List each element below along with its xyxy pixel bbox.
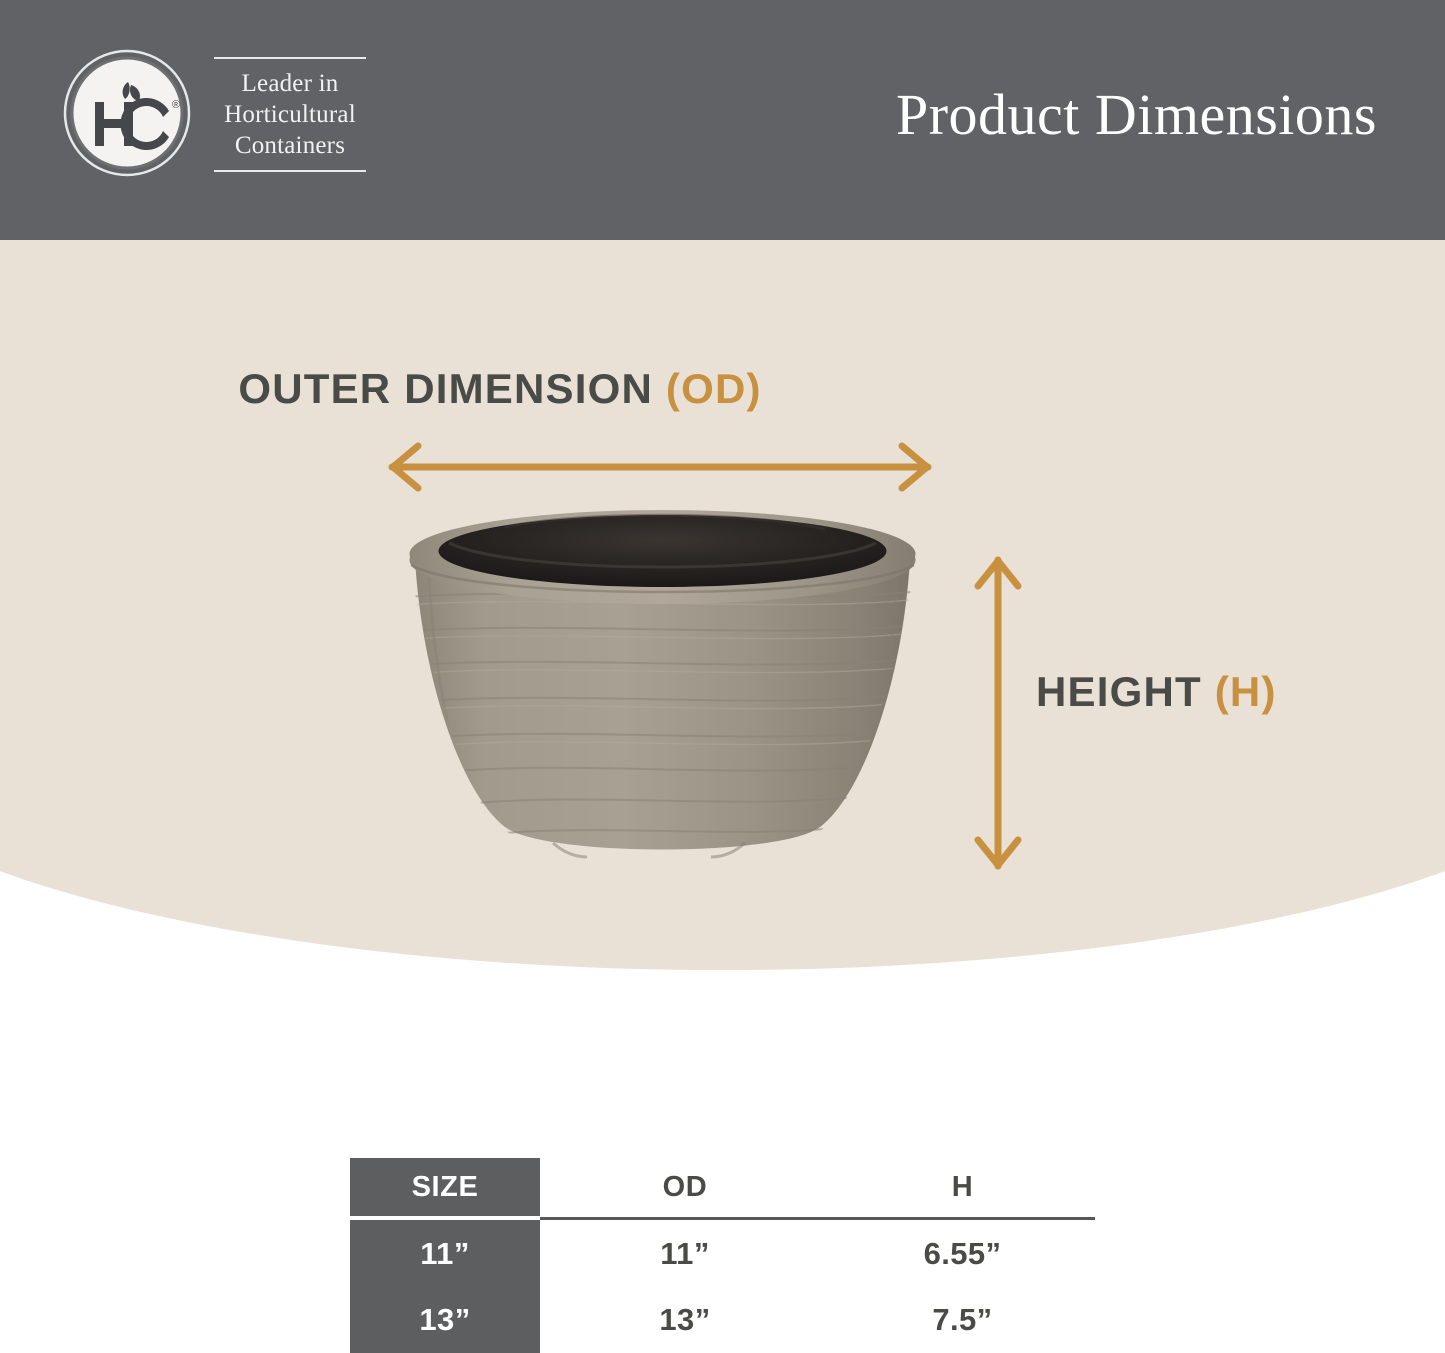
hc-logo-icon: ®	[62, 48, 192, 178]
table-row: 13”	[350, 1287, 540, 1353]
table-row: 11”	[350, 1220, 540, 1287]
od-label-accent: (OD)	[666, 365, 762, 412]
table-row: 7.5”	[830, 1287, 1095, 1353]
od-label-main: OUTER DIMENSION	[238, 365, 666, 412]
dimensions-table: SIZE OD H 11” 11” 6.55” 13” 13” 7.5”	[350, 1158, 1095, 1353]
table-row: 11”	[540, 1220, 830, 1287]
table-header-h: H	[830, 1158, 1095, 1216]
table-row: 13”	[540, 1287, 830, 1353]
height-arrow-icon	[972, 548, 1024, 878]
outer-dimension-arrow-icon	[380, 440, 940, 494]
height-label-main: HEIGHT	[1036, 668, 1215, 715]
tagline-line-1: Leader in	[224, 68, 356, 99]
table-row: 6.55”	[830, 1220, 1095, 1287]
logo-tagline: Leader in Horticultural Containers	[214, 55, 366, 172]
outer-dimension-label: OUTER DIMENSION (OD)	[0, 365, 1445, 413]
page-header: ® Leader in Horticultural Containers Pro…	[0, 0, 1445, 240]
tagline-line-2: Horticultural	[224, 99, 356, 130]
table-header-size: SIZE	[350, 1158, 540, 1216]
planter-product-image	[385, 505, 940, 880]
registered-trademark-symbol: ®	[172, 99, 180, 111]
tagline-rule-bottom	[214, 170, 366, 172]
tagline-line-3: Containers	[224, 130, 356, 161]
height-label: HEIGHT (H)	[1036, 668, 1277, 716]
page-title: Product Dimensions	[896, 84, 1377, 146]
brand-logo: ® Leader in Horticultural Containers	[62, 48, 366, 178]
table-header-od: OD	[540, 1158, 830, 1216]
height-label-accent: (H)	[1215, 668, 1277, 715]
